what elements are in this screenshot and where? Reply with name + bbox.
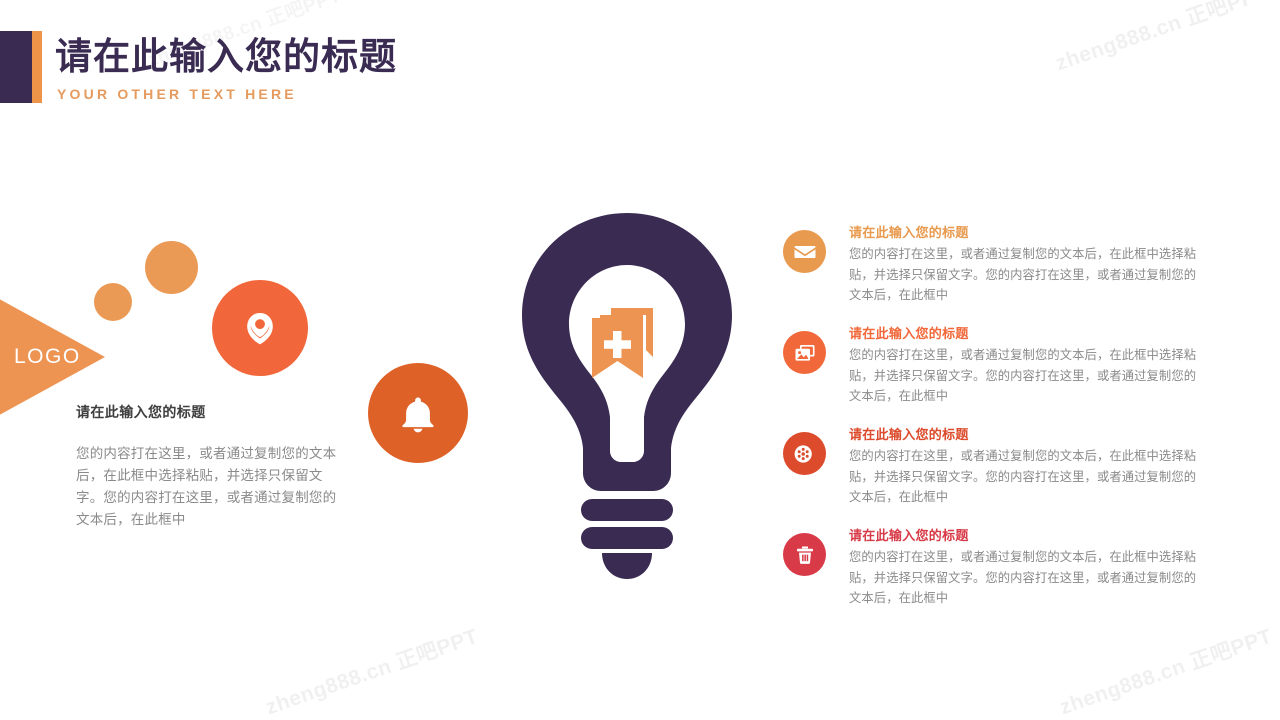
- list-item-heading: 请在此输入您的标题: [849, 424, 1204, 443]
- watermark: zheng888.cn 正吧PPT: [1051, 0, 1272, 77]
- list-item-body: 您的内容打在这里，或者通过复制您的文本后，在此框中选择粘贴，并选择只保留文字。您…: [849, 244, 1204, 306]
- decorative-dot-small: [94, 283, 132, 321]
- list-item-heading: 请在此输入您的标题: [849, 222, 1204, 241]
- film-reel-icon: [793, 442, 817, 466]
- list-item-text: 请在此输入您的标题 您的内容打在这里，或者通过复制您的文本后，在此框中选择粘贴，…: [849, 424, 1204, 508]
- watermark: zheng888.cn 正吧PPT: [1055, 620, 1276, 720]
- list-item-body: 您的内容打在这里，或者通过复制您的文本后，在此框中选择粘贴，并选择只保留文字。您…: [849, 446, 1204, 508]
- list-item-text: 请在此输入您的标题 您的内容打在这里，或者通过复制您的文本后，在此框中选择粘贴，…: [849, 525, 1204, 609]
- left-panel-body: 您的内容打在这里，或者通过复制您的文本后，在此框中选择粘贴，并选择只保留文字。您…: [76, 443, 344, 531]
- list-item-heading: 请在此输入您的标题: [849, 525, 1204, 544]
- envelope-icon: [794, 241, 816, 263]
- page-title: 请在此输入您的标题: [55, 36, 397, 79]
- bell-badge[interactable]: [368, 363, 468, 463]
- envelope-badge[interactable]: [783, 230, 826, 273]
- film-reel-badge[interactable]: [783, 432, 826, 475]
- slide-canvas: zheng888.cn 正吧PPT zheng888.cn 正吧PPT zhen…: [0, 0, 1280, 720]
- list-item-heading: 请在此输入您的标题: [849, 323, 1204, 342]
- image-icon: [794, 342, 816, 364]
- list-item-text: 请在此输入您的标题 您的内容打在这里，或者通过复制您的文本后，在此框中选择粘贴，…: [849, 323, 1204, 407]
- list-item-body: 您的内容打在这里，或者通过复制您的文本后，在此框中选择粘贴，并选择只保留文字。您…: [849, 547, 1204, 609]
- list-item-text: 请在此输入您的标题 您的内容打在这里，或者通过复制您的文本后，在此框中选择粘贴，…: [849, 222, 1204, 306]
- trash-badge[interactable]: [783, 533, 826, 576]
- location-pin-badge[interactable]: [212, 280, 308, 376]
- header-accent-block: [0, 31, 32, 103]
- list-item-body: 您的内容打在这里，或者通过复制您的文本后，在此框中选择粘贴，并选择只保留文字。您…: [849, 345, 1204, 407]
- image-badge[interactable]: [783, 331, 826, 374]
- lightbulb-icon: [497, 205, 757, 590]
- watermark: zheng888.cn 正吧PPT: [261, 620, 482, 720]
- header-accent-stripe: [32, 31, 42, 103]
- left-panel-heading: 请在此输入您的标题: [76, 402, 206, 422]
- decorative-dot-large: [145, 241, 198, 294]
- lightbulb-graphic: [497, 205, 757, 590]
- page-subtitle: YOUR OTHER TEXT HERE: [57, 86, 297, 102]
- location-pin-icon: [238, 306, 282, 350]
- trash-icon: [794, 544, 816, 566]
- logo-label: LOGO: [14, 345, 81, 369]
- bell-icon: [395, 390, 441, 436]
